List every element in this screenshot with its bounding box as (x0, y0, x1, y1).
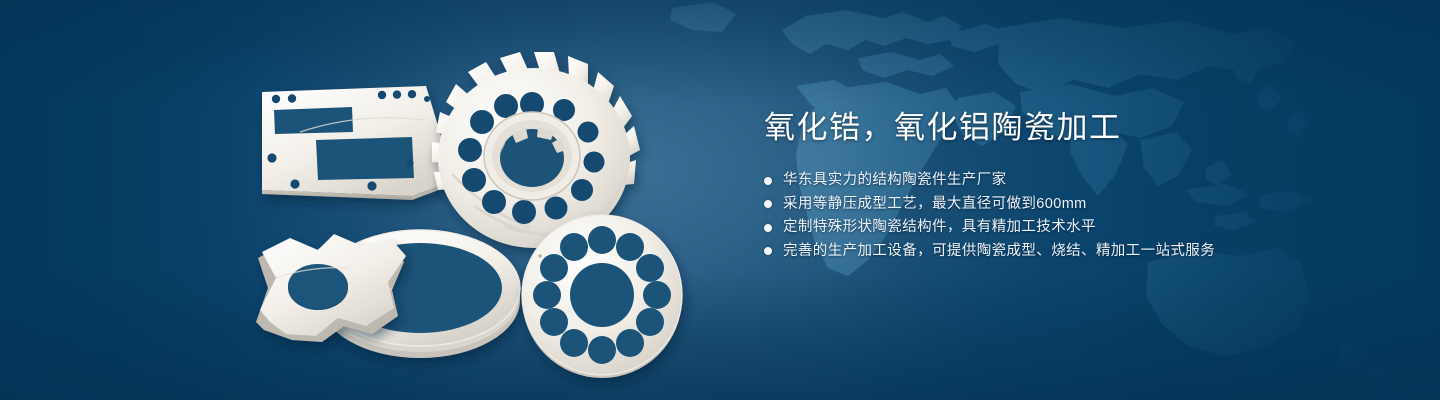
ceramic-products-image (0, 0, 760, 400)
feature-list: 华东具实力的结构陶瓷件生产厂家 采用等静压成型工艺，最大直径可做到600mm 定… (764, 169, 1324, 263)
bullet-dot-icon (764, 224, 772, 232)
ceramic-plate-part (262, 86, 444, 200)
bullet-dot-icon (764, 200, 772, 208)
product-banner: 氧化锆，氧化铝陶瓷加工 华东具实力的结构陶瓷件生产厂家 采用等静压成型工艺，最大… (0, 0, 1440, 400)
bullet-dot-icon (764, 247, 772, 255)
feature-text: 定制特殊形状陶瓷结构件，具有精加工技术水平 (783, 216, 1096, 240)
ceramic-cross-part (256, 234, 406, 342)
list-item: 华东具实力的结构陶瓷件生产厂家 (764, 169, 1324, 193)
list-item: 采用等静压成型工艺，最大直径可做到600mm (764, 193, 1324, 217)
banner-text-block: 氧化锆，氧化铝陶瓷加工 华东具实力的结构陶瓷件生产厂家 采用等静压成型工艺，最大… (764, 108, 1324, 263)
ceramic-perforated-disc-part (522, 215, 682, 378)
list-item: 完善的生产加工设备，可提供陶瓷成型、烧结、精加工一站式服务 (764, 240, 1324, 264)
list-item: 定制特殊形状陶瓷结构件，具有精加工技术水平 (764, 216, 1324, 240)
feature-text: 华东具实力的结构陶瓷件生产厂家 (783, 169, 1007, 193)
bullet-dot-icon (764, 177, 772, 185)
feature-text: 完善的生产加工设备，可提供陶瓷成型、烧结、精加工一站式服务 (783, 240, 1215, 264)
feature-text: 采用等静压成型工艺，最大直径可做到600mm (783, 193, 1087, 217)
page-title: 氧化锆，氧化铝陶瓷加工 (764, 108, 1324, 148)
